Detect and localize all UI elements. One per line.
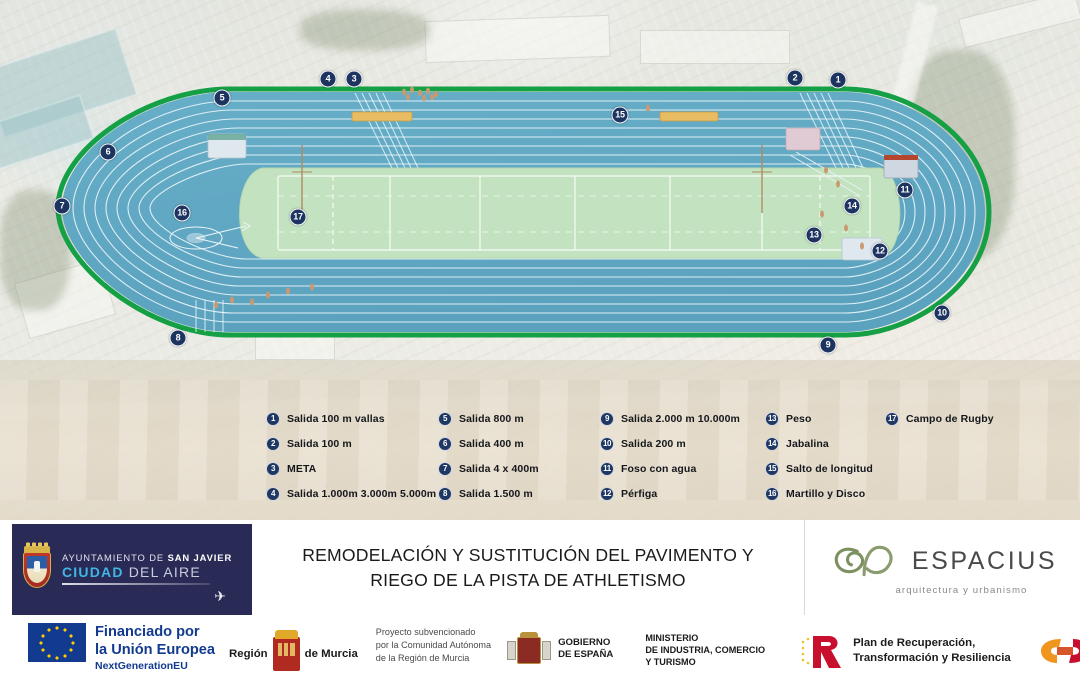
legend-bullet-9: 9 <box>600 412 614 426</box>
rugby-field-turf <box>240 168 900 258</box>
eu-line3: NextGenerationEU <box>95 660 215 673</box>
legend-item-2[interactable]: 2Salida 100 m <box>266 437 438 451</box>
high-jump-area-left <box>208 134 246 158</box>
logo-ayuntamiento-san-javier[interactable]: AYUNTAMIENTO DE SAN JAVIER CIUDAD DEL AI… <box>12 524 252 613</box>
long-jump-pit-left <box>352 112 412 121</box>
gobierno-line1: GOBIERNO <box>558 637 613 649</box>
track-marker-8[interactable]: 8 <box>170 330 187 347</box>
legend-bullet-14: 14 <box>765 437 779 451</box>
logo-region-de-murcia: Región de Murcia <box>215 615 358 671</box>
legend-item-11[interactable]: 11Foso con agua <box>600 462 765 476</box>
track-marker-3[interactable]: 3 <box>346 71 363 88</box>
legend-label-10: Salida 200 m <box>621 438 686 450</box>
san-javier-line1: AYUNTAMIENTO DE SAN JAVIER <box>62 552 232 563</box>
eu-line1: Financiado por <box>95 624 215 642</box>
subvencion-line3: de la Región de Murcia <box>376 652 491 665</box>
espacius-tagline: arquitectura y urbanismo <box>896 585 1028 596</box>
logo-european-union: Financiado por la Unión Europea NextGene… <box>0 615 215 673</box>
legend-label-13: Peso <box>786 413 812 425</box>
legend-bullet-11: 11 <box>600 462 614 476</box>
legend-bullet-2: 2 <box>266 437 280 451</box>
eu-line2: la Unión Europea <box>95 642 215 660</box>
track-marker-17[interactable]: 17 <box>290 209 307 226</box>
ministerio-line1: MINISTERIO <box>645 632 765 644</box>
track-marker-16[interactable]: 16 <box>174 205 191 222</box>
murcia-word-right: de Murcia <box>305 648 358 660</box>
long-jump-pit-right <box>660 112 718 121</box>
eu-flag-icon <box>28 623 86 662</box>
legend-label-3: META <box>287 463 316 475</box>
legend-label-16: Martillo y Disco <box>786 488 865 500</box>
legend-bullet-3: 3 <box>266 462 280 476</box>
legend-column-1: 1Salida 100 m vallas2Salida 100 m3META4S… <box>266 412 438 501</box>
legend-item-13[interactable]: 13Peso <box>765 412 885 426</box>
legend-bullet-16: 16 <box>765 487 779 501</box>
legend-bullet-8: 8 <box>438 487 452 501</box>
subvencion-line1: Proyecto subvencionado <box>376 626 491 639</box>
track-marker-13[interactable]: 13 <box>806 227 823 244</box>
murcia-word-left: Región <box>229 648 268 660</box>
ministerio-line3: Y TURISMO <box>645 656 765 668</box>
athletics-track-graphic <box>0 0 1080 400</box>
legend-label-1: Salida 100 m vallas <box>287 413 385 425</box>
prtr-line2: Transformación y Resiliencia <box>853 651 1011 666</box>
legend-column-2: 5Salida 800 m6Salida 400 m7Salida 4 x 40… <box>438 412 600 501</box>
track-marker-2[interactable]: 2 <box>787 70 804 87</box>
legend-item-17[interactable]: 17Campo de Rugby <box>885 412 1055 426</box>
san-javier-ciudad: CIUDAD <box>62 564 124 580</box>
san-javier-line2: CIUDAD DEL AIRE <box>62 564 232 580</box>
legend-bullet-4: 4 <box>266 487 280 501</box>
legend-item-12[interactable]: 12Pérfiga <box>600 487 765 501</box>
legend-item-16[interactable]: 16Martillo y Disco <box>765 487 885 501</box>
legend-column-3: 9Salida 2.000 m 10.000m10Salida 200 m11F… <box>600 412 765 501</box>
legend-item-5[interactable]: 5Salida 800 m <box>438 412 600 426</box>
subvencion-line2: por la Comunidad Autónoma <box>376 639 491 652</box>
legend-label-7: Salida 4 x 400m <box>459 463 539 475</box>
legend-column-5: 17Campo de Rugby <box>885 412 1055 501</box>
legend-label-9: Salida 2.000 m 10.000m <box>621 413 740 425</box>
legend-item-15[interactable]: 15Salto de longitud <box>765 462 885 476</box>
legend-label-15: Salto de longitud <box>786 463 873 475</box>
legend-item-10[interactable]: 10Salida 200 m <box>600 437 765 451</box>
legend-item-4[interactable]: 4Salida 1.000m 3.000m 5.000m <box>266 487 438 501</box>
prtr-line1: Plan de Recuperación, <box>853 636 1011 651</box>
spain-coat-of-arms-icon <box>507 632 551 666</box>
airplane-icon: ✈ <box>214 588 226 605</box>
legend-label-2: Salida 100 m <box>287 438 352 450</box>
prtr-r-icon <box>799 632 845 670</box>
legend-column-4: 13Peso14Jabalina15Salto de longitud16Mar… <box>765 412 885 501</box>
legend-label-5: Salida 800 m <box>459 413 524 425</box>
legend-bullet-12: 12 <box>600 487 614 501</box>
page-title: REMODELACIÓN Y SUSTITUCIÓN DEL PAVIMENTO… <box>252 520 805 615</box>
legend-item-14[interactable]: 14Jabalina <box>765 437 885 451</box>
legend: 1Salida 100 m vallas2Salida 100 m3META4S… <box>266 412 1066 516</box>
espacius-wordmark: ESPACIUS <box>912 547 1057 576</box>
espacius-swirl-icon <box>828 539 906 583</box>
logo-prtr: Plan de Recuperación, Transformación y R… <box>785 615 1011 670</box>
ministerio-line2: DE INDUSTRIA, COMERCIO <box>645 644 765 656</box>
san-javier-line1-prefix: AYUNTAMIENTO DE <box>62 552 168 563</box>
track-marker-1[interactable]: 1 <box>830 72 847 89</box>
crest-icon <box>20 545 54 593</box>
legend-label-8: Salida 1.500 m <box>459 488 533 500</box>
legend-bullet-10: 10 <box>600 437 614 451</box>
san-javier-underline <box>62 583 210 585</box>
legend-item-3[interactable]: 3META <box>266 462 438 476</box>
aerial-render-panel: 1234567891011121314151617 1Salida 100 m … <box>0 0 1080 520</box>
funding-bar: Financiado por la Unión Europea NextGene… <box>0 615 1080 675</box>
legend-bullet-7: 7 <box>438 462 452 476</box>
logo-espacius[interactable]: ESPACIUS arquitectura y urbanismo <box>805 520 1080 615</box>
track-marker-9[interactable]: 9 <box>820 337 837 354</box>
track-marker-5[interactable]: 5 <box>214 90 231 107</box>
legend-bullet-15: 15 <box>765 462 779 476</box>
legend-label-17: Campo de Rugby <box>906 413 994 425</box>
legend-item-9[interactable]: 9Salida 2.000 m 10.000m <box>600 412 765 426</box>
legend-bullet-6: 6 <box>438 437 452 451</box>
legend-label-4: Salida 1.000m 3.000m 5.000m <box>287 488 436 500</box>
pole-vault-mat <box>786 128 820 150</box>
murcia-crest-icon <box>273 637 300 671</box>
legend-label-11: Foso con agua <box>621 463 696 475</box>
legend-item-1[interactable]: 1Salida 100 m vallas <box>266 412 438 426</box>
track-marker-4[interactable]: 4 <box>320 71 337 88</box>
track-marker-7[interactable]: 7 <box>54 198 71 215</box>
track-marker-10[interactable]: 10 <box>934 305 951 322</box>
water-jump <box>884 155 918 178</box>
san-javier-line1-bold: SAN JAVIER <box>168 552 233 563</box>
legend-bullet-13: 13 <box>765 412 779 426</box>
page-title-line2: RIEGO DE LA PISTA DE ATHLETISMO <box>370 568 685 593</box>
legend-item-7[interactable]: 7Salida 4 x 400m <box>438 462 600 476</box>
csd-logo-icon <box>1033 631 1080 671</box>
logo-ministerio: MINISTERIO DE INDUSTRIA, COMERCIO Y TURI… <box>633 615 765 668</box>
legend-label-6: Salida 400 m <box>459 438 524 450</box>
logo-consejo-superior-deportes: Consejo Superior de Deportes <box>1011 615 1080 675</box>
track-marker-14[interactable]: 14 <box>844 198 861 215</box>
track-marker-15[interactable]: 15 <box>612 107 629 124</box>
logo-gobierno-de-espana: GOBIERNO DE ESPAÑA <box>491 615 613 666</box>
gobierno-line2: DE ESPAÑA <box>558 649 613 661</box>
page-title-line1: REMODELACIÓN Y SUSTITUCIÓN DEL PAVIMENTO… <box>302 543 754 568</box>
track-marker-12[interactable]: 12 <box>872 243 889 260</box>
legend-label-14: Jabalina <box>786 438 829 450</box>
legend-label-12: Pérfiga <box>621 488 657 500</box>
san-javier-del-aire: DEL AIRE <box>124 564 201 580</box>
track-marker-11[interactable]: 11 <box>897 182 914 199</box>
legend-bullet-1: 1 <box>266 412 280 426</box>
subvencion-text: Proyecto subvencionado por la Comunidad … <box>358 615 491 666</box>
track-marker-6[interactable]: 6 <box>100 144 117 161</box>
legend-item-8[interactable]: 8Salida 1.500 m <box>438 487 600 501</box>
legend-item-6[interactable]: 6Salida 400 m <box>438 437 600 451</box>
legend-bullet-5: 5 <box>438 412 452 426</box>
title-bar: AYUNTAMIENTO DE SAN JAVIER CIUDAD DEL AI… <box>0 520 1080 615</box>
legend-bullet-17: 17 <box>885 412 899 426</box>
